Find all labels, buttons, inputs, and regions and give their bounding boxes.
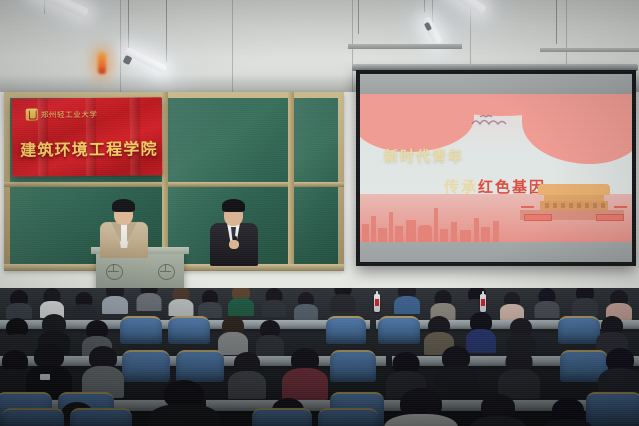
torso xyxy=(228,298,254,316)
skyline-tower xyxy=(434,208,438,242)
gate-window xyxy=(585,203,589,208)
torso xyxy=(534,301,559,318)
auditorium-chair xyxy=(122,350,170,382)
skyline-building xyxy=(406,220,416,242)
auditorium-chair xyxy=(176,350,224,382)
chalkboard-divider xyxy=(162,92,168,270)
audience-member-white-shirt xyxy=(384,388,458,426)
audience-member xyxy=(218,316,248,352)
screen-top-band xyxy=(360,74,632,94)
gate-window xyxy=(545,203,549,208)
torso xyxy=(330,294,355,312)
light-suspension-wire xyxy=(358,0,359,34)
audience-member-dark-coat xyxy=(26,344,72,396)
water-bottle xyxy=(374,294,380,312)
auditorium-chair xyxy=(330,350,376,382)
skyline-pagoda xyxy=(418,225,432,242)
audience-member xyxy=(72,292,96,318)
audience-member xyxy=(430,290,455,318)
red-department-banner: 郑州轻工业大学 建筑环境工程学院 xyxy=(12,97,163,177)
audience-member xyxy=(262,288,286,316)
auditorium-chair xyxy=(326,316,366,344)
audience-member xyxy=(606,290,632,318)
light-suspension-wire xyxy=(166,0,167,62)
audience-member xyxy=(198,290,222,316)
gate-flag-dash xyxy=(521,206,534,208)
audience-member xyxy=(500,292,524,318)
university-logo-icon xyxy=(26,109,38,121)
auditorium-chair xyxy=(558,316,600,344)
torso xyxy=(282,368,328,400)
audience-member xyxy=(168,288,193,314)
audience-member xyxy=(598,348,639,396)
slide-headline-primary: 新时代青年 xyxy=(384,146,464,166)
audience-member xyxy=(506,318,536,352)
gate-flag-dash xyxy=(614,206,627,208)
audience-member xyxy=(464,288,490,314)
audience-member xyxy=(394,288,420,312)
slide-wave-shape-right xyxy=(522,94,632,164)
skyline-building xyxy=(378,228,387,242)
skyline-building xyxy=(395,226,403,242)
gate-window xyxy=(569,203,573,208)
gate-mid-wall xyxy=(540,201,608,210)
audience-member xyxy=(40,288,64,316)
banner-university-mark: 郑州轻工业大学 xyxy=(26,108,98,121)
chinese-cloud-motif-icon xyxy=(468,112,518,128)
chalkboard-panel xyxy=(294,98,338,264)
projection-screen-surface: 新时代青年 传承红色基因 xyxy=(360,74,632,262)
gate-slogan-plaque-left xyxy=(524,214,552,221)
projection-screen: 新时代青年 传承红色基因 xyxy=(356,70,636,266)
audience-seating-area xyxy=(0,288,639,426)
audience-member xyxy=(572,288,598,314)
torso xyxy=(148,404,220,426)
torso xyxy=(572,298,598,316)
gate-slogan-plaque-right xyxy=(596,214,624,221)
jacket-logo-patch xyxy=(40,374,50,380)
gate-upper-roof xyxy=(538,184,610,195)
skyline-building xyxy=(451,222,457,242)
torso xyxy=(168,299,193,316)
auditorium-chair xyxy=(378,316,420,344)
gate-window xyxy=(601,203,605,208)
skyline-building xyxy=(362,224,369,242)
tiananmen-gate-illustration xyxy=(538,184,610,220)
water-bottle xyxy=(480,294,486,312)
speaker-standing xyxy=(210,196,258,266)
torso xyxy=(262,300,286,317)
audience-member xyxy=(596,316,628,352)
torso xyxy=(136,293,161,311)
presentation-slide: 新时代青年 传承红色基因 xyxy=(360,94,632,242)
light-suspension-wire xyxy=(424,0,425,12)
skyline-building xyxy=(493,221,499,242)
auditorium-chair xyxy=(70,408,132,426)
auditorium-chair xyxy=(318,408,378,426)
audience-member xyxy=(6,290,32,316)
wall-trim-strip xyxy=(540,48,639,52)
wall-trim-strip xyxy=(348,44,462,49)
audience-member xyxy=(330,288,355,310)
skyline-building xyxy=(481,227,490,242)
torso xyxy=(228,371,266,399)
audience-member xyxy=(294,292,318,318)
auditorium-chair xyxy=(252,408,312,426)
lecture-hall-photo: 郑州轻工业大学 建筑环境工程学院 新时代青年 传承红色基因 xyxy=(0,0,639,426)
university-name-text: 郑州轻工业大学 xyxy=(41,108,98,120)
light-suspension-wire xyxy=(556,0,557,44)
speaker-at-podium xyxy=(100,196,148,258)
audience-member xyxy=(534,288,559,316)
gate-window xyxy=(561,203,565,208)
audience-member xyxy=(256,320,284,354)
slide-skyline-band xyxy=(360,194,632,242)
speaker-hair xyxy=(222,199,245,212)
audience-member xyxy=(228,288,254,314)
skyline-building xyxy=(389,212,393,242)
audience-member-green-graphic-jacket xyxy=(148,380,220,426)
skyline-building xyxy=(371,216,376,242)
torso xyxy=(294,304,318,320)
gate-window xyxy=(593,203,597,208)
warm-light-reflection xyxy=(98,52,106,74)
banner-department-text: 建筑环境工程学院 xyxy=(20,135,156,160)
screen-bottom-band xyxy=(360,242,632,262)
light-suspension-wire xyxy=(44,0,45,14)
torso xyxy=(542,419,594,426)
torso xyxy=(72,304,96,320)
audience-member xyxy=(102,288,128,312)
gate-window xyxy=(577,203,581,208)
audience-member xyxy=(228,352,266,396)
podium-crest-icon xyxy=(158,264,175,280)
auditorium-chair xyxy=(168,316,210,344)
podium-crest-icon xyxy=(106,264,123,280)
torso xyxy=(102,296,128,314)
audience-member xyxy=(542,398,594,426)
speaker-hand xyxy=(229,240,239,249)
audience-member xyxy=(136,288,161,310)
skyline-building xyxy=(474,218,479,242)
audience-member xyxy=(470,394,526,426)
torso xyxy=(6,303,32,319)
audience-member xyxy=(498,350,540,396)
audience-member-maroon-hoodie xyxy=(282,348,328,398)
auditorium-chair xyxy=(2,408,64,426)
auditorium-chair xyxy=(120,316,162,344)
gate-window xyxy=(553,203,557,208)
chalkboard-sheen xyxy=(294,98,338,264)
torso xyxy=(394,296,420,314)
audience-member xyxy=(82,346,124,396)
torso xyxy=(470,416,526,426)
audience-member xyxy=(466,312,496,350)
torso xyxy=(384,414,458,426)
chalkboard-divider xyxy=(288,92,294,270)
skyline-building xyxy=(440,229,448,242)
speaker-hair xyxy=(112,199,135,212)
skyline-building xyxy=(460,230,471,242)
